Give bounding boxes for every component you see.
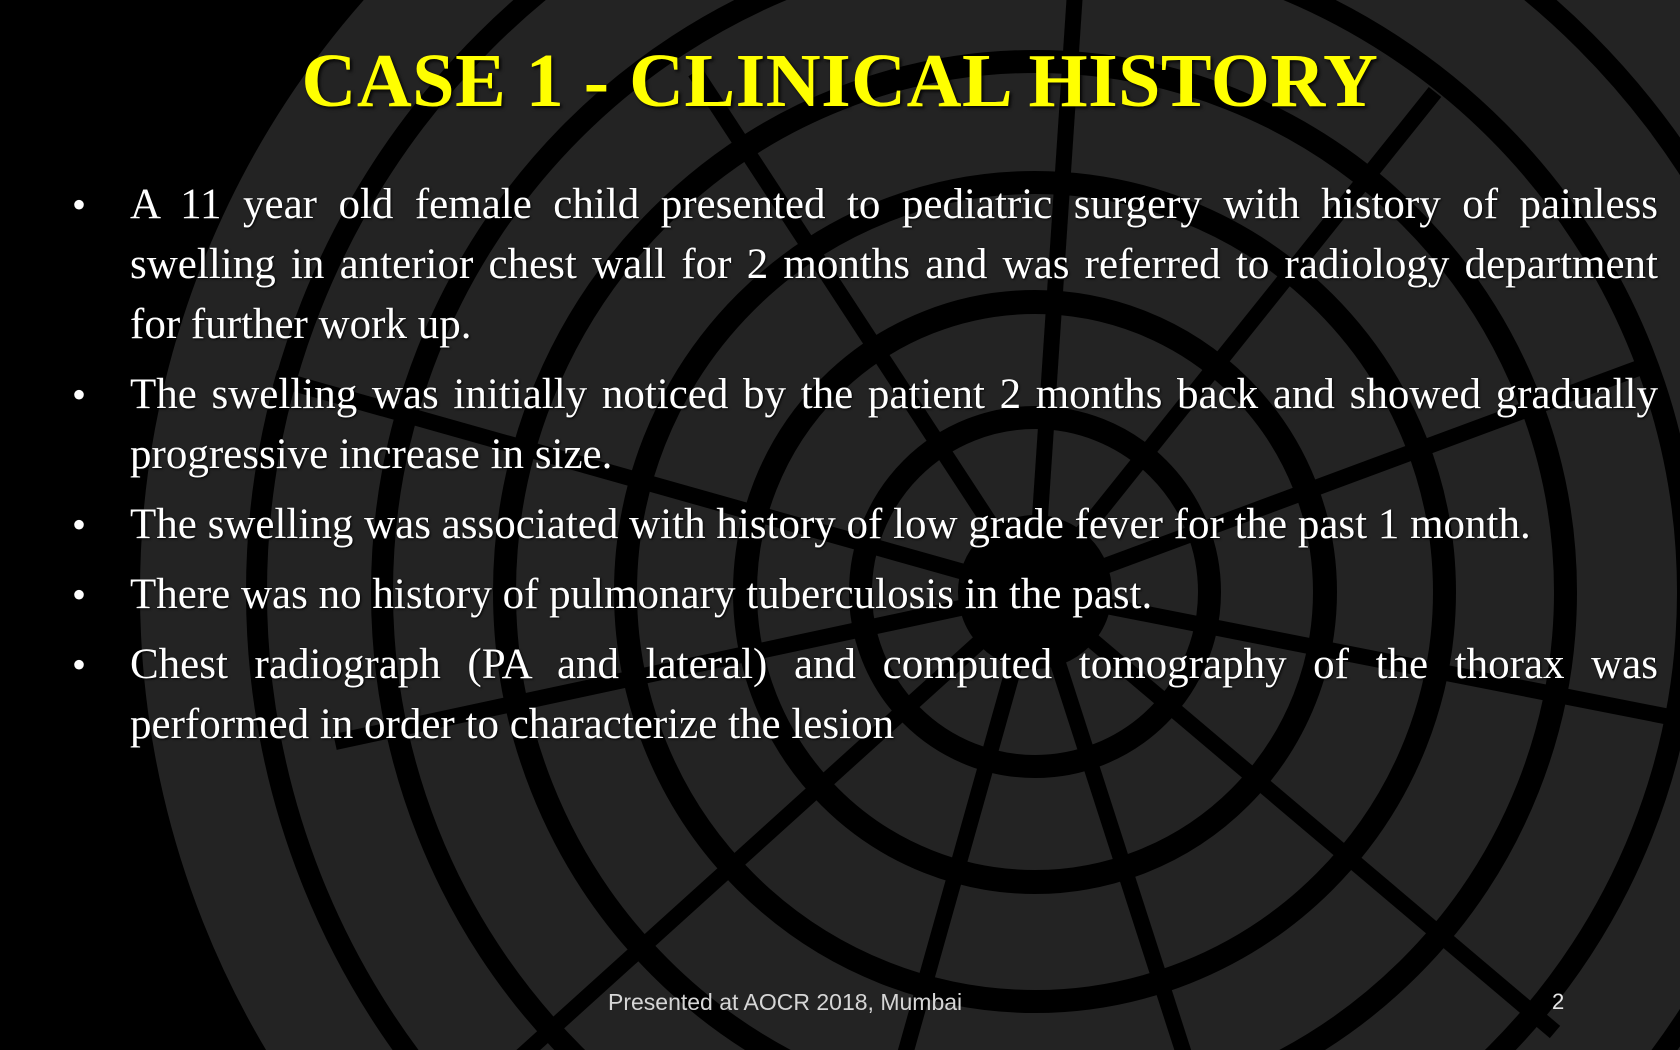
bullet-point-icon: • [72, 365, 96, 425]
title-bar: CASE 1 - CLINICAL HISTORY [0, 38, 1680, 124]
list-item: • The swelling was associated with histo… [52, 495, 1658, 555]
slide-canvas: CASE 1 - CLINICAL HISTORY • A 11 year ol… [0, 0, 1680, 1050]
list-item: • A 11 year old female child presented t… [52, 175, 1658, 355]
list-item: • The swelling was initially noticed by … [52, 365, 1658, 485]
page-title: CASE 1 - CLINICAL HISTORY [302, 38, 1379, 124]
list-item: • Chest radiograph (PA and lateral) and … [52, 635, 1658, 755]
list-item-text: Chest radiograph (PA and lateral) and co… [130, 635, 1658, 755]
bullet-point-icon: • [72, 495, 96, 555]
list-item-text: There was no history of pulmonary tuberc… [130, 565, 1658, 625]
bullet-list: • A 11 year old female child presented t… [52, 175, 1652, 755]
list-item: • There was no history of pulmonary tube… [52, 565, 1658, 625]
bullet-point-icon: • [72, 635, 96, 695]
page-number: 2 [1552, 988, 1564, 1016]
list-item-text: A 11 year old female child presented to … [130, 175, 1658, 355]
footer-attribution: Presented at AOCR 2018, Mumbai [608, 988, 962, 1016]
list-item-text: The swelling was associated with history… [130, 495, 1658, 555]
bullet-point-icon: • [72, 565, 96, 625]
list-item-text: The swelling was initially noticed by th… [130, 365, 1658, 485]
bullet-point-icon: • [72, 175, 96, 235]
